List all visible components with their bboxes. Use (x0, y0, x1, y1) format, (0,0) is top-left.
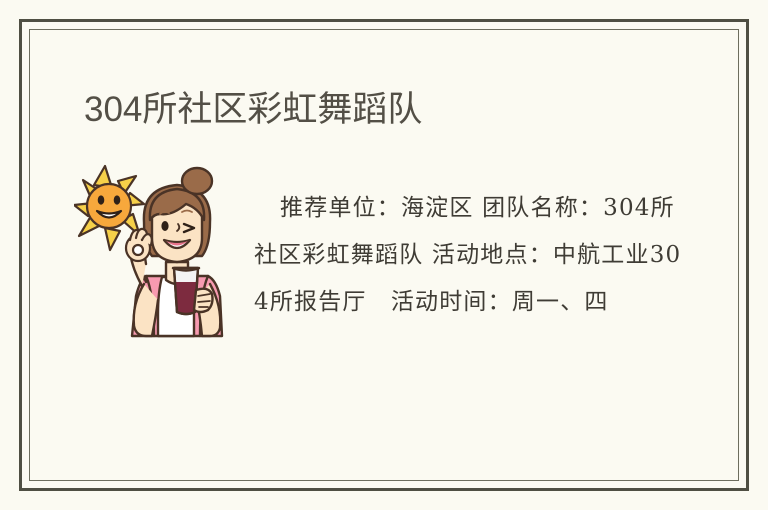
page-root: 304所社区彩虹舞蹈队 (0, 0, 768, 510)
outer-frame-border: 304所社区彩虹舞蹈队 (19, 19, 749, 491)
ok-gesture-hand (126, 229, 152, 261)
illustration-woman-with-juice-and-sun (74, 164, 242, 340)
team-details-text: 推荐单位：海淀区 团队名称：304所社区彩虹舞蹈队 活动地点：中航工业304所报… (254, 185, 684, 326)
page-title: 304所社区彩虹舞蹈队 (84, 88, 422, 132)
